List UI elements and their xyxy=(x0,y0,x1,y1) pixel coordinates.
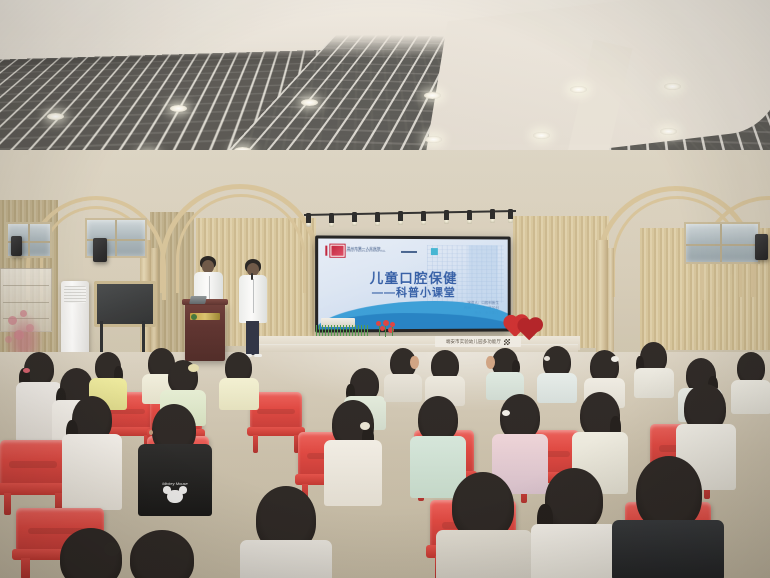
ac-grille xyxy=(64,286,86,303)
presenter-laptop xyxy=(189,296,207,304)
stage-green-plants xyxy=(316,325,368,336)
child-torso xyxy=(240,540,332,578)
ceiling-downlight xyxy=(664,83,681,90)
chair-leg xyxy=(4,493,11,515)
hair-tie xyxy=(611,356,619,362)
mickey-head xyxy=(167,490,182,504)
column-trunk-right xyxy=(596,240,608,356)
wall-speaker-left xyxy=(11,236,22,256)
column-trunk-right2 xyxy=(608,248,614,356)
slide-subtitle: ——科普小课堂 xyxy=(318,284,508,300)
track-spotlight xyxy=(375,212,380,223)
child xyxy=(60,528,122,578)
hair-clip xyxy=(502,410,510,416)
logo-org-subname: FIRST PEOPLE'S HOSPITAL xyxy=(347,251,386,254)
track-spotlight xyxy=(329,213,334,224)
wall-tv-blackboard xyxy=(94,281,156,327)
wooden-podium xyxy=(185,303,225,361)
presenter-shoe xyxy=(254,354,262,357)
slide-hospital-logo: 温州市第一人民医院 FIRST PEOPLE'S HOSPITAL xyxy=(325,245,385,257)
window-mullion xyxy=(28,224,30,256)
ceiling-downlight xyxy=(424,92,441,99)
ceiling-downlight xyxy=(425,136,442,143)
child-torso xyxy=(62,434,122,510)
hair-tie xyxy=(360,422,370,430)
hair-tie xyxy=(188,364,199,372)
child-torso xyxy=(324,440,382,506)
track-spotlight xyxy=(490,209,495,220)
presenter-legs xyxy=(246,321,259,355)
window-mullion xyxy=(115,220,117,256)
child-face-profile xyxy=(486,356,495,369)
ceiling-downlight xyxy=(533,132,550,139)
venue-plaque-text: 端安市实验幼儿园多功能厅 xyxy=(446,338,501,344)
child xyxy=(24,352,54,386)
chair[interactable] xyxy=(0,440,66,514)
handheld-microphone[interactable] xyxy=(251,273,253,280)
window-mullion xyxy=(686,244,758,246)
slide-dash-accent xyxy=(401,251,417,253)
logo-red-bar xyxy=(325,246,327,256)
child-hair xyxy=(130,530,194,578)
child-torso xyxy=(731,380,770,414)
heart-icon xyxy=(519,320,540,341)
presenter-with-mic xyxy=(238,259,270,364)
child-mickey-tshirt: Mickey Mouse xyxy=(138,444,212,516)
wall-heart-decoration xyxy=(504,312,548,338)
venue-plaque: 端安市实验幼儿园多功能厅 xyxy=(435,336,521,347)
child-torso xyxy=(537,373,577,403)
auditorium-photo: 温州市第一人民医院 FIRST PEOPLE'S HOSPITAL 儿童口腔保健… xyxy=(0,0,770,578)
child-face-profile xyxy=(410,356,419,369)
mickey-text: Mickey Mouse xyxy=(156,481,194,486)
hair-tie xyxy=(104,542,120,556)
track-spotlight xyxy=(508,209,513,220)
presenter-lab-coat xyxy=(239,275,267,323)
track-spotlight xyxy=(467,210,472,221)
podium-emblem xyxy=(190,313,220,320)
wall-speaker-center xyxy=(93,238,107,262)
projection-screen-surface: 温州市第一人民医院 FIRST PEOPLE'S HOSPITAL 儿童口腔保健… xyxy=(318,238,508,329)
chair-back xyxy=(0,440,66,486)
child-torso xyxy=(634,368,674,398)
window-mullion xyxy=(720,224,722,262)
logo-seal-icon xyxy=(330,245,344,257)
ceiling-downlight xyxy=(47,113,64,120)
stage-red-flowers xyxy=(374,320,400,337)
child xyxy=(168,360,198,394)
floor-standing-ac-unit xyxy=(61,281,89,359)
child-torso xyxy=(219,378,259,410)
track-spotlight xyxy=(306,213,311,224)
track-spotlight xyxy=(398,211,403,222)
child xyxy=(130,530,194,578)
track-spotlight xyxy=(444,210,449,221)
child-torso xyxy=(531,524,617,578)
child-torso xyxy=(436,530,532,578)
qr-code-icon xyxy=(504,339,510,345)
ceiling-downlight xyxy=(170,105,187,112)
child xyxy=(636,456,702,530)
slide-square-accent xyxy=(431,248,438,255)
hair-tie xyxy=(23,368,30,373)
child-ear xyxy=(149,430,153,435)
child-hair xyxy=(636,456,702,530)
mickey-mouse-graphic: Mickey Mouse xyxy=(156,481,194,505)
child-torso xyxy=(384,374,422,402)
window-right xyxy=(684,222,760,264)
chair-leg xyxy=(253,435,258,453)
wall-speaker-right xyxy=(755,234,768,260)
chair-leg xyxy=(21,558,30,578)
ceiling-downlight xyxy=(570,86,587,93)
child-torso xyxy=(612,520,724,578)
ceiling-downlight xyxy=(301,99,318,106)
hair-clip xyxy=(544,356,550,361)
child xyxy=(545,468,603,532)
ceiling-downlight xyxy=(660,128,677,135)
child-hair xyxy=(545,468,603,532)
logo-text-block: 温州市第一人民医院 FIRST PEOPLE'S HOSPITAL xyxy=(347,247,386,254)
track-spotlight xyxy=(421,211,426,222)
track-spotlight xyxy=(352,212,357,223)
